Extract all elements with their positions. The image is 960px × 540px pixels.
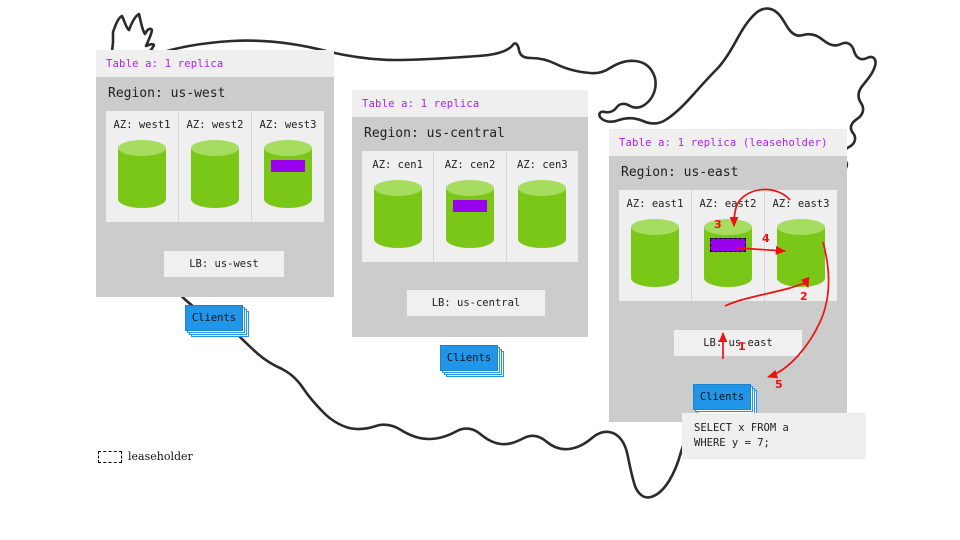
cylinder-top-icon — [631, 219, 679, 235]
cylinder-top-icon — [118, 140, 166, 156]
region-title-us-central: Region: us-central — [362, 117, 578, 151]
panel-body-us-central: Region: us-central AZ: cen1 AZ: cen2 — [352, 117, 588, 337]
az-label-east2: AZ: east2 — [692, 198, 764, 210]
legend-leaseholder: leaseholder — [98, 450, 193, 463]
cylinder-body-icon — [704, 227, 752, 287]
panel-body-us-east: Region: us-east AZ: east1 AZ: east2 — [609, 156, 847, 422]
cylinder-top-icon — [264, 140, 312, 156]
flow-step-number-5: 5 — [775, 378, 783, 391]
node-cylinder-cen3[interactable] — [518, 180, 566, 252]
node-cylinder-west2[interactable] — [191, 140, 239, 212]
az-label-west3: AZ: west3 — [252, 119, 324, 131]
replica-marker-leaseholder-east2 — [710, 238, 746, 252]
legend-label: leaseholder — [128, 450, 193, 463]
cylinder-body-icon — [118, 148, 166, 208]
replica-marker-west3 — [271, 160, 305, 172]
az-cell-cen3[interactable]: AZ: cen3 — [507, 151, 578, 262]
replica-marker-cen2 — [453, 200, 487, 212]
node-cylinder-west1[interactable] — [118, 140, 166, 212]
cylinder-top-icon — [374, 180, 422, 196]
cylinder-body-icon — [374, 188, 422, 248]
az-row-us-central: AZ: cen1 AZ: cen2 AZ: cen3 — [362, 151, 578, 262]
node-cylinder-east2[interactable] — [704, 219, 752, 291]
load-balancer-us-west[interactable]: LB: us-west — [164, 251, 284, 277]
node-cylinder-east3[interactable] — [777, 219, 825, 291]
load-balancer-us-central[interactable]: LB: us-central — [407, 290, 545, 316]
region-title-us-east: Region: us-east — [619, 156, 837, 190]
az-row-us-west: AZ: west1 AZ: west2 AZ: west3 — [106, 111, 324, 222]
panel-header-us-east: Table a: 1 replica (leaseholder) — [609, 129, 847, 156]
az-label-cen1: AZ: cen1 — [362, 159, 433, 171]
flow-step-number-2: 2 — [800, 290, 808, 303]
panel-header-us-central: Table a: 1 replica — [352, 90, 588, 117]
node-cylinder-cen2[interactable] — [446, 180, 494, 252]
az-label-east1: AZ: east1 — [619, 198, 691, 210]
flow-step-number-1: 1 — [738, 340, 746, 353]
az-cell-cen2[interactable]: AZ: cen2 — [434, 151, 506, 262]
flow-step-number-4: 4 — [762, 232, 770, 245]
diagram-canvas: Table a: 1 replica Region: us-west AZ: w… — [0, 0, 960, 540]
region-panel-us-east: Table a: 1 replica (leaseholder) Region:… — [609, 129, 847, 422]
az-cell-west2[interactable]: AZ: west2 — [179, 111, 252, 222]
cylinder-top-icon — [704, 219, 752, 235]
cylinder-top-icon — [518, 180, 566, 196]
az-cell-east1[interactable]: AZ: east1 — [619, 190, 692, 301]
cylinder-body-icon — [777, 227, 825, 287]
clients-stack-us-central[interactable]: Clients — [440, 345, 498, 371]
clients-label-us-central[interactable]: Clients — [440, 345, 498, 371]
dashed-rect-swatch-icon — [98, 451, 122, 463]
az-cell-west1[interactable]: AZ: west1 — [106, 111, 179, 222]
clients-stack-us-east[interactable]: Clients — [693, 384, 751, 410]
az-cell-west3[interactable]: AZ: west3 — [252, 111, 324, 222]
cylinder-body-icon — [191, 148, 239, 208]
node-cylinder-cen1[interactable] — [374, 180, 422, 252]
region-panel-us-west: Table a: 1 replica Region: us-west AZ: w… — [96, 50, 334, 297]
flow-step-number-3: 3 — [714, 218, 722, 231]
az-cell-east2[interactable]: AZ: east2 — [692, 190, 765, 301]
node-cylinder-west3[interactable] — [264, 140, 312, 212]
az-cell-east3[interactable]: AZ: east3 — [765, 190, 837, 301]
region-title-us-west: Region: us-west — [106, 77, 324, 111]
az-cell-cen1[interactable]: AZ: cen1 — [362, 151, 434, 262]
az-label-east3: AZ: east3 — [765, 198, 837, 210]
cylinder-body-icon — [631, 227, 679, 287]
az-label-west2: AZ: west2 — [179, 119, 251, 131]
panel-body-us-west: Region: us-west AZ: west1 AZ: west2 — [96, 77, 334, 297]
az-row-us-east: AZ: east1 AZ: east2 AZ: east3 — [619, 190, 837, 301]
clients-label-us-east[interactable]: Clients — [693, 384, 751, 410]
az-label-west1: AZ: west1 — [106, 119, 178, 131]
cylinder-top-icon — [777, 219, 825, 235]
cylinder-body-icon — [446, 188, 494, 248]
az-label-cen3: AZ: cen3 — [507, 159, 578, 171]
sql-query-box: SELECT x FROM a WHERE y = 7; — [682, 413, 866, 459]
clients-label-us-west[interactable]: Clients — [185, 305, 243, 331]
panel-header-us-west: Table a: 1 replica — [96, 50, 334, 77]
cylinder-body-icon — [518, 188, 566, 248]
cylinder-top-icon — [446, 180, 494, 196]
node-cylinder-east1[interactable] — [631, 219, 679, 291]
cylinder-body-icon — [264, 148, 312, 208]
az-label-cen2: AZ: cen2 — [434, 159, 505, 171]
clients-stack-us-west[interactable]: Clients — [185, 305, 243, 331]
region-panel-us-central: Table a: 1 replica Region: us-central AZ… — [352, 90, 588, 337]
cylinder-top-icon — [191, 140, 239, 156]
